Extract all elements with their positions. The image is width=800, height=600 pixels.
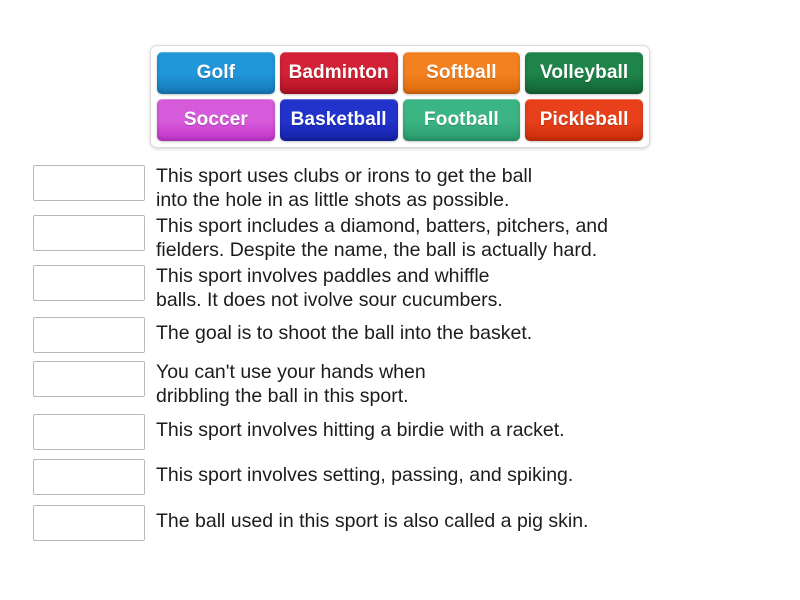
tile-label: Pickleball: [540, 109, 629, 131]
answer-drop-box[interactable]: [33, 459, 145, 495]
clue-row: The ball used in this sport is also call…: [33, 503, 773, 541]
clue-row: This sport uses clubs or irons to get th…: [33, 163, 773, 212]
draggable-tile-golf[interactable]: Golf: [157, 52, 275, 94]
draggable-tile-softball[interactable]: Softball: [403, 52, 521, 94]
tile-bank-row-1: Golf Badminton Softball Volleyball: [157, 52, 643, 94]
clue-text: This sport involves paddles and whiffle …: [156, 263, 503, 312]
tile-bank: Golf Badminton Softball Volleyball Socce…: [150, 45, 650, 148]
tile-label: Basketball: [291, 109, 387, 131]
tile-bank-row-2: Soccer Basketball Football Pickleball: [157, 99, 643, 141]
draggable-tile-volleyball[interactable]: Volleyball: [525, 52, 643, 94]
draggable-tile-football[interactable]: Football: [403, 99, 521, 141]
answer-drop-box[interactable]: [33, 215, 145, 251]
clue-row: You can't use your hands when dribbling …: [33, 359, 773, 408]
answer-drop-box[interactable]: [33, 265, 145, 301]
tile-label: Golf: [197, 62, 235, 84]
clue-list: This sport uses clubs or irons to get th…: [33, 163, 773, 541]
answer-drop-box[interactable]: [33, 317, 145, 353]
clue-row: This sport involves hitting a birdie wit…: [33, 412, 773, 450]
clue-row: The goal is to shoot the ball into the b…: [33, 315, 773, 353]
tile-label: Soccer: [184, 109, 248, 131]
answer-drop-box[interactable]: [33, 505, 145, 541]
clue-row: This sport involves paddles and whiffle …: [33, 263, 773, 312]
draggable-tile-basketball[interactable]: Basketball: [280, 99, 398, 141]
clue-text: You can't use your hands when dribbling …: [156, 359, 426, 408]
clue-text: The goal is to shoot the ball into the b…: [156, 315, 532, 345]
tile-label: Softball: [426, 62, 496, 84]
activity-page: Golf Badminton Softball Volleyball Socce…: [0, 0, 800, 600]
clue-text: The ball used in this sport is also call…: [156, 503, 588, 533]
clue-text: This sport involves hitting a birdie wit…: [156, 412, 565, 442]
clue-text: This sport includes a diamond, batters, …: [156, 213, 608, 262]
tile-label: Badminton: [289, 62, 389, 84]
clue-row: This sport includes a diamond, batters, …: [33, 213, 773, 262]
tile-label: Football: [424, 109, 499, 131]
tile-label: Volleyball: [540, 62, 628, 84]
clue-text: This sport uses clubs or irons to get th…: [156, 163, 532, 212]
answer-drop-box[interactable]: [33, 361, 145, 397]
draggable-tile-pickleball[interactable]: Pickleball: [525, 99, 643, 141]
clue-text: This sport involves setting, passing, an…: [156, 457, 573, 487]
draggable-tile-badminton[interactable]: Badminton: [280, 52, 398, 94]
draggable-tile-soccer[interactable]: Soccer: [157, 99, 275, 141]
clue-row: This sport involves setting, passing, an…: [33, 457, 773, 495]
answer-drop-box[interactable]: [33, 414, 145, 450]
answer-drop-box[interactable]: [33, 165, 145, 201]
